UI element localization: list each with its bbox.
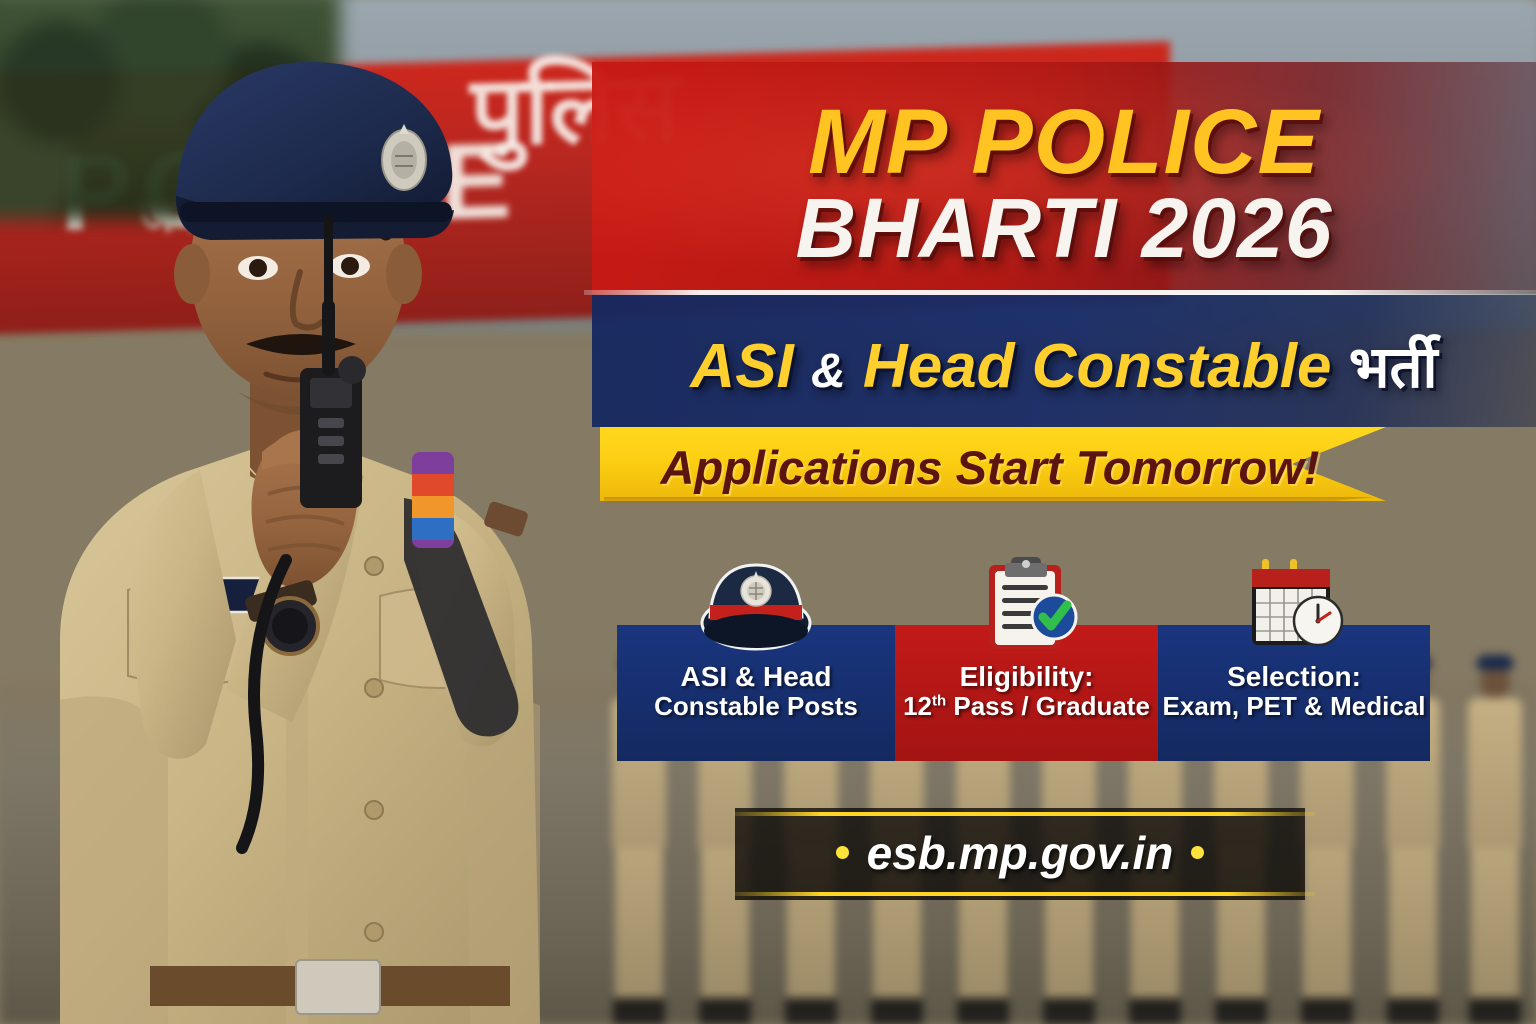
card-selection-line1: Selection:: [1227, 661, 1361, 692]
card-selection-line2: Exam, PET & Medical: [1163, 692, 1426, 721]
bullet-dot-right: [1191, 846, 1204, 859]
bullet-dot-left: [836, 846, 849, 859]
info-card-eligibility: Eligibility: 12th Pass / Graduate: [895, 625, 1158, 761]
police-cap-icon: [696, 555, 816, 653]
police-officer-photo: [0, 0, 640, 1024]
poster-root: POLICE पुलिस जन सेवा: [0, 0, 1536, 1024]
info-card-selection: Selection: Exam, PET & Medical: [1158, 625, 1430, 761]
info-card-posts: ASI & Head Constable Posts: [617, 625, 895, 761]
card-eligibility-number: 12: [903, 691, 932, 721]
subtitle-hindi-bharti: भर्ती: [1349, 335, 1438, 400]
card-eligibility-qualification: Pass / Graduate: [946, 691, 1150, 721]
card-eligibility-line2: 12th Pass / Graduate: [903, 692, 1150, 721]
calendar-clock-icon: [1234, 555, 1354, 653]
page-title-line2: BHARTI 2026: [592, 180, 1536, 277]
card-eligibility-line1: Eligibility:: [960, 661, 1094, 692]
website-rule-top: [735, 812, 1315, 816]
card-posts-line2: Constable Posts: [654, 692, 858, 721]
card-eligibility-ordinal: th: [932, 692, 946, 709]
subtitle-band: ASI & Head Constable भर्ती: [592, 295, 1536, 427]
subtitle-ampersand: &: [811, 345, 846, 398]
ribbon-label: Applications Start Tomorrow!: [640, 440, 1340, 492]
ribbon-shadow: [604, 497, 1374, 506]
clipboard-check-icon: [967, 555, 1087, 653]
subtitle-head-constable: Head Constable: [863, 332, 1332, 401]
website-url[interactable]: esb.mp.gov.in: [735, 826, 1305, 880]
subtitle-text: ASI & Head Constable भर्ती: [592, 325, 1536, 404]
card-posts-line1: ASI & Head: [681, 661, 832, 692]
info-cards: ASI & Head Constable Posts: [617, 625, 1430, 761]
website-url-text: esb.mp.gov.in: [867, 827, 1174, 879]
title-band: MP POLICE BHARTI 2026: [592, 62, 1536, 294]
website-rule-bottom: [735, 892, 1315, 896]
subtitle-asi: ASI: [690, 332, 793, 401]
